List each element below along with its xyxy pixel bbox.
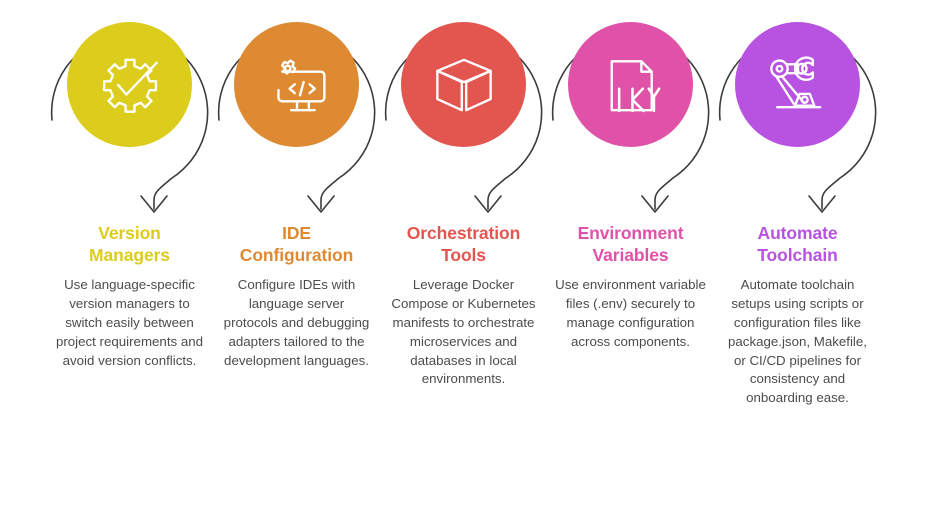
step-body-3: Leverage Docker Compose or Kubernetes ma… (388, 276, 540, 389)
steps-row: Version Managers Use language-specific v… (0, 0, 925, 509)
step-column-automate-toolchain: Automate Toolchain Automate toolchain se… (714, 0, 881, 509)
step-title-2: IDE Configuration (217, 222, 377, 266)
step-title-line1: Automate (758, 223, 838, 243)
step-title-5: Automate Toolchain (718, 222, 878, 266)
key-document-icon (568, 22, 693, 147)
step-title-line1: Version (98, 223, 161, 243)
infographic-board: Version Managers Use language-specific v… (0, 0, 925, 509)
gear-check-icon (67, 22, 192, 147)
step-title-line2: Variables (593, 245, 669, 265)
step-title-line2: Configuration (240, 245, 353, 265)
step-body-4: Use environment variable files (.env) se… (555, 276, 707, 352)
cube-icon (401, 22, 526, 147)
step-title-line2: Tools (441, 245, 486, 265)
step-title-3: Orchestration Tools (384, 222, 544, 266)
step-title-line2: Toolchain (757, 245, 837, 265)
step-badge-5 (714, 0, 881, 222)
step-title-line2: Managers (89, 245, 170, 265)
step-title-line1: Environment (578, 223, 684, 243)
step-badge-4 (547, 0, 714, 222)
step-badge-3 (380, 0, 547, 222)
step-body-2: Configure IDEs with language server prot… (221, 276, 373, 370)
step-column-orchestration-tools: Orchestration Tools Leverage Docker Comp… (380, 0, 547, 509)
monitor-code-gear-icon (234, 22, 359, 147)
step-body-1: Use language-specific version managers t… (54, 276, 206, 370)
robot-arm-icon (735, 22, 860, 147)
step-title-line1: IDE (282, 223, 311, 243)
step-title-line1: Orchestration (407, 223, 520, 243)
step-title-4: Environment Variables (551, 222, 711, 266)
step-column-ide-configuration: IDE Configuration Configure IDEs with la… (213, 0, 380, 509)
step-badge-1 (46, 0, 213, 222)
step-title-1: Version Managers (50, 222, 210, 266)
step-body-5: Automate toolchain setups using scripts … (722, 276, 874, 408)
step-badge-2 (213, 0, 380, 222)
step-column-version-managers: Version Managers Use language-specific v… (46, 0, 213, 509)
step-column-environment-variables: Environment Variables Use environment va… (547, 0, 714, 509)
